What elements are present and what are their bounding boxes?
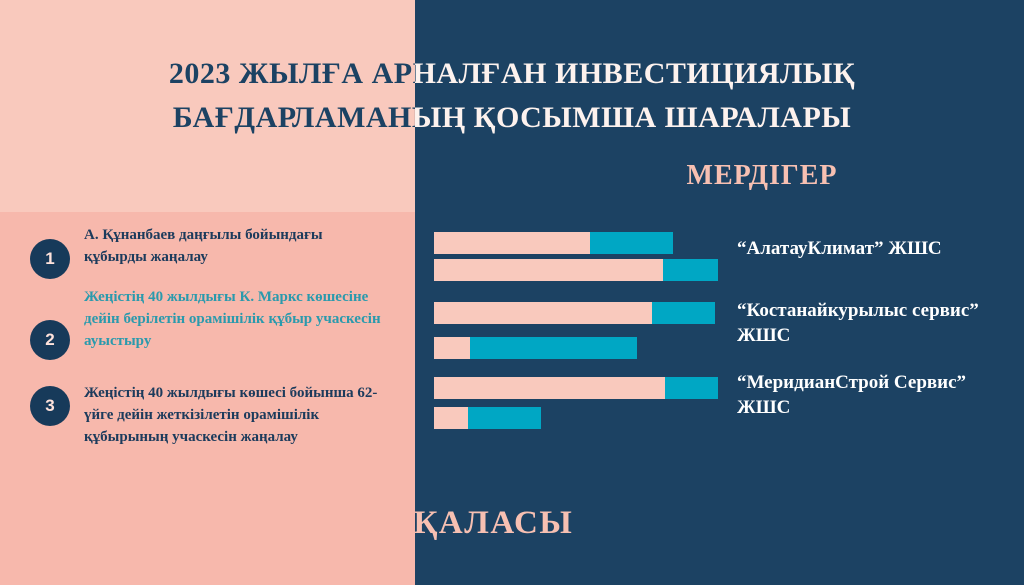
bar-segment-teal — [663, 259, 718, 281]
bar-segment-teal — [590, 232, 673, 254]
bar-segment-pink — [434, 259, 663, 281]
bar-segment-pink — [434, 377, 665, 399]
bar-segment-teal — [652, 302, 715, 324]
bar-row — [434, 407, 541, 429]
bar-row — [434, 302, 715, 324]
bar-row — [434, 232, 673, 254]
bar-segment-teal — [470, 337, 637, 359]
bar-segment-teal — [468, 407, 541, 429]
contractor-label: “МеридианСтрой Сервис” ЖШС — [737, 370, 1022, 421]
contractor-label: “Костанайкурылыс сервис” ЖШС — [737, 298, 1022, 349]
bar-chart — [0, 0, 1024, 585]
bar-segment-pink — [434, 232, 590, 254]
bar-segment-teal — [665, 377, 718, 399]
contractor-label: “АлатауКлимат” ЖШС — [737, 236, 1022, 261]
bar-segment-pink — [434, 302, 652, 324]
bar-row — [434, 259, 718, 281]
bar-segment-pink — [434, 337, 470, 359]
city-footer: ШАХТИНСК ҚАЛАСЫ ШАХТИНСК ҚАЛАСЫ — [0, 505, 1024, 555]
infographic-canvas: 2023 ЖЫЛҒА АРНАЛҒАН ИНВЕСТИЦИЯЛЫҚ БАҒДАР… — [0, 0, 1024, 585]
bar-row — [434, 377, 718, 399]
bar-row — [434, 337, 637, 359]
bar-segment-pink — [434, 407, 468, 429]
